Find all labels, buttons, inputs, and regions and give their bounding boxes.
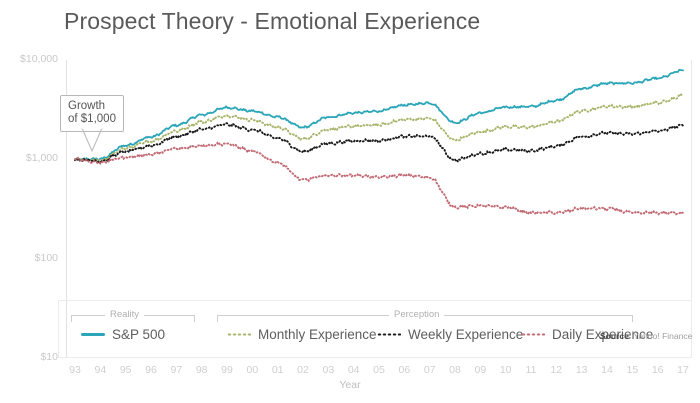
x-axis-tick-label: 08 [443, 364, 467, 376]
legend-swatch-sp500 [81, 333, 105, 336]
legend: Reality Perception S&P 500 Monthly Exper… [58, 300, 692, 358]
x-axis-tick-label: 12 [544, 364, 568, 376]
x-axis-tick-label: 02 [291, 364, 315, 376]
x-axis-tick-label: 10 [494, 364, 518, 376]
x-axis-tick-label: 14 [595, 364, 619, 376]
x-axis-tick-label: 00 [240, 364, 264, 376]
x-axis-tick-label: 01 [266, 364, 290, 376]
x-axis-tick-label: 15 [620, 364, 644, 376]
legend-item-weekly[interactable]: Weekly Experience [377, 327, 523, 342]
x-axis-title: Year [0, 379, 700, 391]
legend-swatch-daily [521, 333, 545, 336]
page-title: Prospect Theory - Emotional Experience [64, 8, 480, 35]
x-axis-tick-label: 95 [114, 364, 138, 376]
y-axis-tick-label: $1,000 [0, 152, 58, 164]
x-axis-tick-label: 17 [671, 364, 695, 376]
legend-swatch-monthly [227, 333, 251, 336]
source-prefix: Source [600, 331, 629, 341]
x-axis-tick-label: 97 [164, 364, 188, 376]
x-axis-tick-label: 09 [468, 364, 492, 376]
x-axis-tick-label: 96 [139, 364, 163, 376]
legend-label-monthly: Monthly Experience [258, 327, 377, 342]
x-axis-tick-label: 05 [367, 364, 391, 376]
x-axis-tick-label: 99 [215, 364, 239, 376]
x-axis-tick-label: 11 [519, 364, 543, 376]
x-axis-tick-label: 98 [190, 364, 214, 376]
legend-group-reality: Reality [71, 309, 195, 321]
legend-item-monthly[interactable]: Monthly Experience [227, 327, 377, 342]
x-axis-tick-label: 06 [392, 364, 416, 376]
legend-item-sp500[interactable]: S&P 500 [81, 327, 165, 342]
x-axis-tick-label: 93 [63, 364, 87, 376]
chart-root: Prospect Theory - Emotional Experience $… [0, 0, 700, 403]
legend-group-perception-label: Perception [389, 309, 444, 320]
series-s-p-500 [75, 70, 683, 160]
x-axis-tick-label: 94 [88, 364, 112, 376]
source-value: Yahoo! Finance [633, 331, 692, 341]
legend-group-reality-label: Reality [105, 309, 144, 320]
x-axis-tick-label: 03 [316, 364, 340, 376]
source-note: Source: Yahoo! Finance [600, 331, 692, 341]
legend-swatch-weekly [377, 333, 401, 336]
x-axis-tick-label: 07 [418, 364, 442, 376]
legend-label-sp500: S&P 500 [112, 327, 165, 342]
legend-group-perception: Perception [217, 309, 633, 321]
y-axis-tick-label: $10 [0, 351, 58, 363]
y-axis-tick-label: $10,000 [0, 53, 58, 65]
x-axis-tick-label: 04 [342, 364, 366, 376]
x-axis-tick-label: 13 [570, 364, 594, 376]
x-axis-tick-label: 16 [646, 364, 670, 376]
series-daily-experience [75, 143, 683, 214]
y-axis-tick-label: $100 [0, 252, 58, 264]
legend-label-weekly: Weekly Experience [408, 327, 523, 342]
